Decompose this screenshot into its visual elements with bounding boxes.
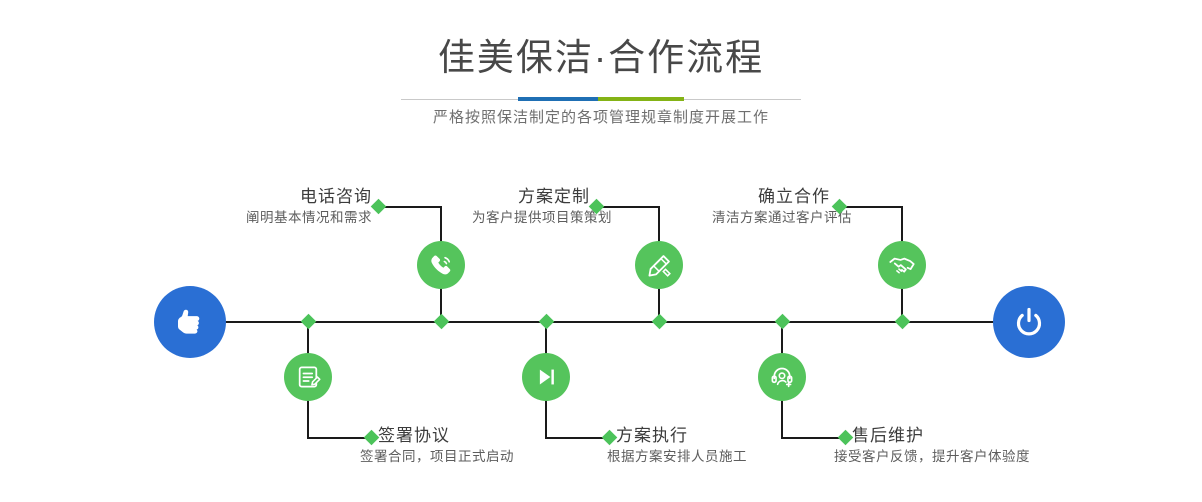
pointing-hand-icon: [170, 302, 210, 342]
connector-horizontal: [781, 437, 845, 439]
document-edit-icon[interactable]: [284, 353, 332, 401]
flow-diagram-canvas: 佳美保洁·合作流程 严格按照保洁制定的各项管理规章制度开展工作: [0, 0, 1202, 502]
axis-diamond: [301, 314, 317, 330]
timeline-end-node: [993, 286, 1065, 358]
page-subtitle: 严格按照保洁制定的各项管理规章制度开展工作: [0, 106, 1202, 127]
divider-segment-green: [598, 97, 684, 101]
timeline-start-node: [154, 286, 226, 358]
step-title: 确立合作: [620, 186, 830, 208]
connector-horizontal: [596, 206, 660, 208]
pencil-ruler-icon[interactable]: [635, 241, 683, 289]
connector-horizontal: [307, 437, 371, 439]
step-label-plan-execution: 方案执行 根据方案安排人员施工: [616, 425, 866, 467]
step-title: 方案执行: [616, 425, 866, 447]
step-title: 签署协议: [378, 425, 628, 447]
step-desc: 为客户提供项目策策划: [380, 208, 612, 228]
page-title: 佳美保洁·合作流程: [0, 0, 1202, 80]
step-title: 方案定制: [380, 186, 590, 208]
connector-horizontal: [545, 437, 609, 439]
connector-horizontal: [378, 206, 442, 208]
axis-diamond: [539, 314, 555, 330]
step-desc: 阐明基本情况和需求: [150, 208, 372, 228]
phone-call-icon[interactable]: [417, 241, 465, 289]
title-divider: [401, 97, 801, 103]
step-label-sign-agreement: 签署协议 签署合同，项目正式启动: [378, 425, 628, 467]
axis-diamond: [652, 314, 668, 330]
step-desc: 接受客户反馈，提升客户体验度: [834, 447, 1112, 467]
step-title: 电话咨询: [150, 186, 372, 208]
step-label-phone-consultation: 电话咨询 阐明基本情况和需求: [150, 186, 372, 228]
play-skip-icon[interactable]: [522, 353, 570, 401]
axis-diamond: [434, 314, 450, 330]
step-title: 售后维护: [852, 425, 1112, 447]
axis-diamond: [775, 314, 791, 330]
connector-horizontal: [839, 206, 903, 208]
axis-diamond: [895, 314, 911, 330]
connector-diamond: [364, 430, 380, 446]
header: 佳美保洁·合作流程: [0, 0, 1202, 80]
divider-segment-blue: [518, 97, 598, 101]
step-desc: 根据方案安排人员施工: [607, 447, 866, 467]
step-desc: 签署合同，项目正式启动: [360, 447, 628, 467]
customer-service-icon[interactable]: [758, 353, 806, 401]
step-desc: 清洁方案通过客户评估: [620, 208, 852, 228]
power-icon: [1009, 302, 1049, 342]
handshake-icon[interactable]: [878, 241, 926, 289]
step-label-after-sales: 售后维护 接受客户反馈，提升客户体验度: [852, 425, 1112, 467]
